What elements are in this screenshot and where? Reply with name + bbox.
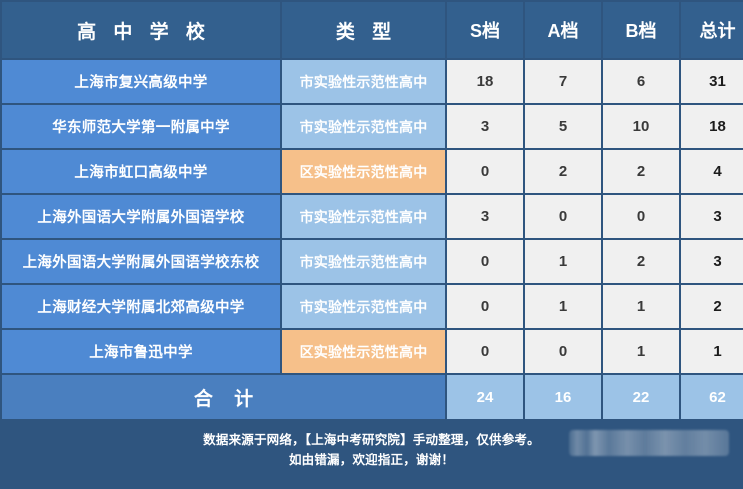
column-header-s-tier: S档 [447, 2, 523, 58]
cell-row-total: 18 [681, 105, 743, 148]
cell-a-tier: 5 [525, 105, 601, 148]
cell-b-tier: 2 [603, 150, 679, 193]
table-row: 上海市复兴高级中学市实验性示范性高中187631 [2, 60, 743, 103]
cell-b-tier: 1 [603, 330, 679, 373]
cell-school-type: 区实验性示范性高中 [282, 330, 445, 373]
cell-school-type: 市实验性示范性高中 [282, 60, 445, 103]
table-row: 上海市虹口高级中学区实验性示范性高中0224 [2, 150, 743, 193]
table-footer-totals: 合 计 24 16 22 62 [2, 375, 743, 419]
cell-s-tier: 18 [447, 60, 523, 103]
cell-row-total: 2 [681, 285, 743, 328]
cell-s-tier: 0 [447, 285, 523, 328]
cell-a-tier: 7 [525, 60, 601, 103]
cell-school-type: 市实验性示范性高中 [282, 195, 445, 238]
totals-row: 合 计 24 16 22 62 [2, 375, 743, 419]
cell-school-name: 上海外国语大学附属外国语学校东校 [2, 240, 280, 283]
cell-s-tier: 0 [447, 330, 523, 373]
cell-school-type: 市实验性示范性高中 [282, 240, 445, 283]
cell-b-tier: 6 [603, 60, 679, 103]
cell-school-type: 区实验性示范性高中 [282, 150, 445, 193]
column-header-total: 总计 [681, 2, 743, 58]
footnote: 数据来源于网络，【上海中考研究院】手动整理，仅供参考。 如由错漏，欢迎指正，谢谢… [0, 421, 743, 477]
table-row: 上海市鲁迅中学区实验性示范性高中0011 [2, 330, 743, 373]
cell-a-tier: 0 [525, 195, 601, 238]
blurred-watermark [569, 430, 729, 456]
totals-s-tier: 24 [447, 375, 523, 419]
totals-a-tier: 16 [525, 375, 601, 419]
cell-school-name: 上海外国语大学附属外国语学校 [2, 195, 280, 238]
cell-row-total: 3 [681, 195, 743, 238]
cell-s-tier: 0 [447, 240, 523, 283]
cell-b-tier: 1 [603, 285, 679, 328]
table-row: 上海外国语大学附属外国语学校东校市实验性示范性高中0123 [2, 240, 743, 283]
cell-school-name: 华东师范大学第一附属中学 [2, 105, 280, 148]
totals-b-tier: 22 [603, 375, 679, 419]
cell-school-name: 上海财经大学附属北郊高级中学 [2, 285, 280, 328]
cell-school-type: 市实验性示范性高中 [282, 285, 445, 328]
column-header-b-tier: B档 [603, 2, 679, 58]
column-header-type: 类 型 [282, 2, 445, 58]
totals-label: 合 计 [2, 375, 445, 419]
cell-a-tier: 1 [525, 285, 601, 328]
table-header: 高 中 学 校 类 型 S档 A档 B档 总计 [2, 2, 743, 58]
cell-school-name: 上海市虹口高级中学 [2, 150, 280, 193]
cell-row-total: 3 [681, 240, 743, 283]
table-row: 华东师范大学第一附属中学市实验性示范性高中351018 [2, 105, 743, 148]
cell-row-total: 1 [681, 330, 743, 373]
table-body: 上海市复兴高级中学市实验性示范性高中187631华东师范大学第一附属中学市实验性… [2, 60, 743, 373]
cell-row-total: 31 [681, 60, 743, 103]
column-header-a-tier: A档 [525, 2, 601, 58]
table-row: 上海财经大学附属北郊高级中学市实验性示范性高中0112 [2, 285, 743, 328]
admissions-table-card: 高 中 学 校 类 型 S档 A档 B档 总计 上海市复兴高级中学市实验性示范性… [0, 0, 743, 489]
totals-grand-total: 62 [681, 375, 743, 419]
cell-school-type: 市实验性示范性高中 [282, 105, 445, 148]
cell-s-tier: 3 [447, 195, 523, 238]
cell-b-tier: 10 [603, 105, 679, 148]
table-row: 上海外国语大学附属外国语学校市实验性示范性高中3003 [2, 195, 743, 238]
cell-school-name: 上海市复兴高级中学 [2, 60, 280, 103]
cell-a-tier: 2 [525, 150, 601, 193]
cell-a-tier: 0 [525, 330, 601, 373]
cell-row-total: 4 [681, 150, 743, 193]
cell-b-tier: 2 [603, 240, 679, 283]
cell-a-tier: 1 [525, 240, 601, 283]
admissions-table: 高 中 学 校 类 型 S档 A档 B档 总计 上海市复兴高级中学市实验性示范性… [0, 0, 743, 421]
cell-s-tier: 0 [447, 150, 523, 193]
cell-b-tier: 0 [603, 195, 679, 238]
header-row: 高 中 学 校 类 型 S档 A档 B档 总计 [2, 2, 743, 58]
cell-s-tier: 3 [447, 105, 523, 148]
column-header-school: 高 中 学 校 [2, 2, 280, 58]
cell-school-name: 上海市鲁迅中学 [2, 330, 280, 373]
